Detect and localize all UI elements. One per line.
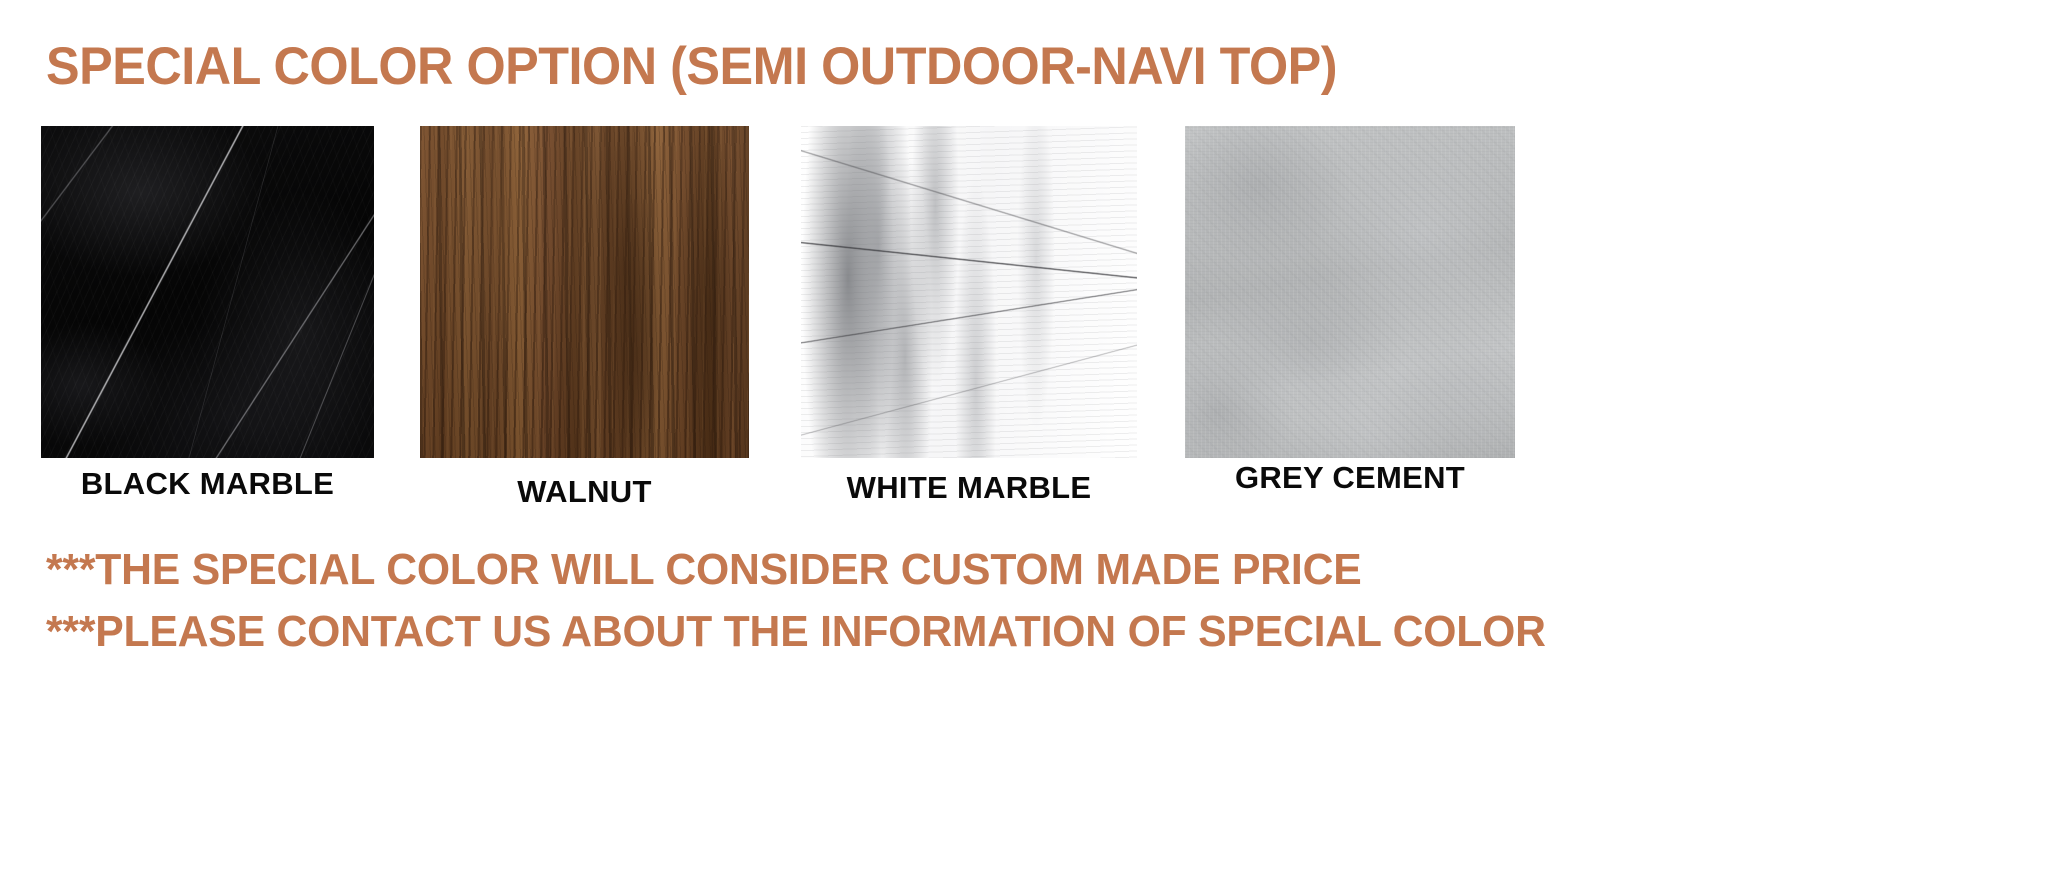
footnote-custom-made-price: ***THE SPECIAL COLOR WILL CONSIDER CUSTO… <box>46 541 1889 599</box>
swatch-image-walnut[interactable] <box>420 126 749 458</box>
swatch-image-white-marble[interactable] <box>801 126 1137 458</box>
swatch-image-grey-cement[interactable] <box>1185 126 1515 458</box>
swatch-label-white-marble: WHITE MARBLE <box>801 470 1137 506</box>
swatch-cell-white-marble[interactable]: WHITE MARBLE <box>801 126 1137 458</box>
swatch-cell-grey-cement[interactable]: GREY CEMENT <box>1185 126 1515 458</box>
swatch-cell-black-marble[interactable]: BLACK MARBLE <box>41 126 374 458</box>
swatch-cell-walnut[interactable]: WALNUT <box>420 126 749 458</box>
swatch-image-black-marble[interactable] <box>41 126 374 458</box>
swatch-label-walnut: WALNUT <box>420 474 749 510</box>
footnotes: ***THE SPECIAL COLOR WILL CONSIDER CUSTO… <box>46 541 1946 661</box>
swatch-label-black-marble: BLACK MARBLE <box>41 466 374 502</box>
special-color-option-page: SPECIAL COLOR OPTION (SEMI OUTDOOR-NAVI … <box>0 0 2048 895</box>
swatch-label-grey-cement: GREY CEMENT <box>1185 460 1515 496</box>
page-title: SPECIAL COLOR OPTION (SEMI OUTDOOR-NAVI … <box>46 36 1337 97</box>
color-swatch-row: BLACK MARBLE WALNUT WHITE MARBLE GREY CE… <box>0 126 2048 506</box>
footnote-contact-us: ***PLEASE CONTACT US ABOUT THE INFORMATI… <box>46 603 1889 661</box>
